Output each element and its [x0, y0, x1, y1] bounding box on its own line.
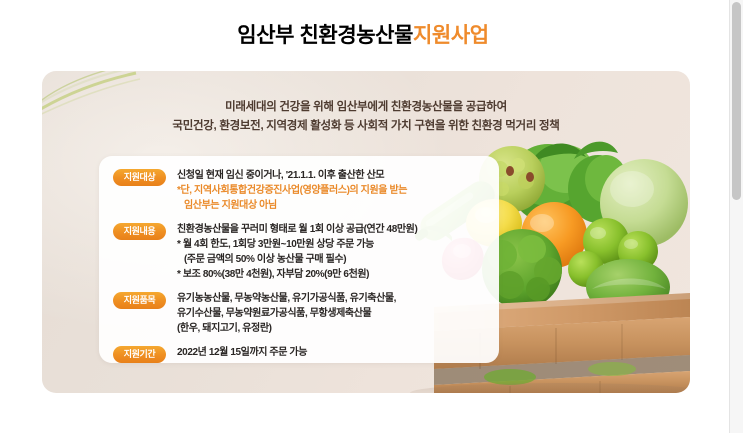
info-row-line: 신청일 현재 임신 중이거나, '21.1.1. 이후 출산한 산모	[177, 168, 407, 183]
info-row-line: 임산부는 지원대상 아님	[177, 198, 407, 213]
info-row: 지원품목유기농농산물, 무농약농산물, 유기가공식품, 유기축산물,유기수산물,…	[113, 291, 489, 336]
info-card: 지원대상신청일 현재 임신 중이거나, '21.1.1. 이후 출산한 산모*단…	[99, 156, 499, 363]
info-row-line: (주문 금액의 50% 이상 농산물 구매 필수)	[177, 252, 417, 267]
info-row-body: 2022년 12월 15일까지 주문 가능	[177, 345, 307, 360]
info-row-line: *단, 지역사회통합건강증진사업(영양플러스)의 지원을 받는	[177, 183, 407, 198]
info-row-line: (한우, 돼지고기, 유정란)	[177, 321, 396, 336]
info-row: 지원대상신청일 현재 임신 중이거나, '21.1.1. 이후 출산한 산모*단…	[113, 168, 489, 213]
page-title-accent: 지원사업	[413, 24, 489, 47]
info-row-badge: 지원내용	[113, 223, 166, 240]
info-row-badge: 지원품목	[113, 292, 166, 309]
info-row-badge: 지원대상	[113, 169, 166, 186]
info-row: 지원내용친환경농산물을 꾸러미 형태로 월 1회 이상 공급(연간 48만원)*…	[113, 222, 489, 282]
info-row-body: 친환경농산물을 꾸러미 형태로 월 1회 이상 공급(연간 48만원)* 월 4…	[177, 222, 417, 282]
info-row-line: 유기농농산물, 무농약농산물, 유기가공식품, 유기축산물,	[177, 291, 396, 306]
vertical-scrollbar-track[interactable]	[729, 0, 743, 433]
info-row-line: 친환경농산물을 꾸러미 형태로 월 1회 이상 공급(연간 48만원)	[177, 222, 417, 237]
info-row: 지원기간2022년 12월 15일까지 주문 가능	[113, 345, 489, 363]
page-title: 임산부 친환경농산물지원사업	[0, 19, 726, 49]
page-title-main: 임산부 친환경농산물	[237, 24, 413, 47]
info-row-line: 2022년 12월 15일까지 주문 가능	[177, 345, 307, 360]
info-row-body: 유기농농산물, 무농약농산물, 유기가공식품, 유기축산물,유기수산물, 무농약…	[177, 291, 396, 336]
info-row-line: * 월 4회 한도, 1회당 3만원~10만원 상당 주문 가능	[177, 237, 417, 252]
info-row-list: 지원대상신청일 현재 임신 중이거나, '21.1.1. 이후 출산한 산모*단…	[113, 168, 489, 363]
info-row-line: 유기수산물, 무농약원료가공식품, 무항생제축산물	[177, 306, 396, 321]
info-row-line: * 보조 80%(38만 4천원), 자부담 20%(9만 6천원)	[177, 267, 417, 282]
info-row-badge: 지원기간	[113, 346, 166, 363]
vertical-scrollbar-thumb[interactable]	[732, 2, 741, 200]
program-banner: 미래세대의 건강을 위해 임산부에게 친환경농산물을 공급하여 국민건강, 환경…	[42, 71, 690, 393]
info-row-body: 신청일 현재 임신 중이거나, '21.1.1. 이후 출산한 산모*단, 지역…	[177, 168, 407, 213]
